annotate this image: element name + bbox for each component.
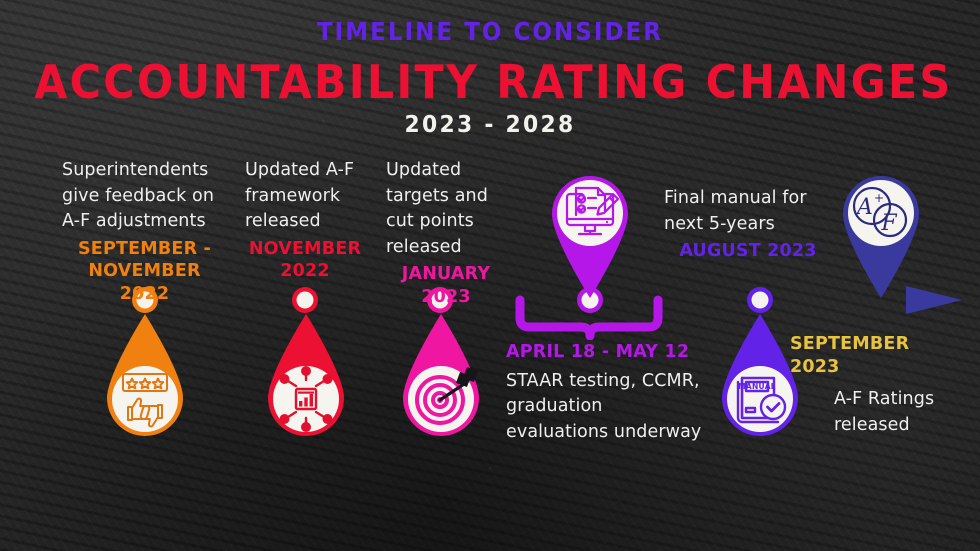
event-body: STAAR testing, CCMR, graduation evaluati… xyxy=(506,369,706,446)
event-date: NOVEMBER 2022 xyxy=(245,238,365,283)
event-body: A-F Ratings released xyxy=(834,387,955,438)
marker-staar-testing[interactable] xyxy=(545,152,635,300)
node-5[interactable] xyxy=(747,287,773,313)
event-af-ratings-released-text: SEPTEMBER 2023 A-F Ratings released xyxy=(790,333,955,438)
year-range-subtitle: 2023 - 2028 xyxy=(25,112,956,138)
manual-book-label: MANUAL xyxy=(738,382,776,391)
event-final-manual-text: Final manual for next 5-years AUGUST 202… xyxy=(664,186,832,263)
event-body: Updated A-F framework released xyxy=(245,158,375,235)
marker-final-manual[interactable]: MANUAL xyxy=(716,312,804,444)
event-targets-cut-points-text: Updated targets and cut points released … xyxy=(386,158,521,308)
marker-targets-cut-points[interactable] xyxy=(397,312,485,444)
node-2[interactable] xyxy=(292,287,318,313)
event-framework-released-text: Updated A-F framework released NOVEMBER … xyxy=(245,158,375,283)
marker-framework-released[interactable] xyxy=(262,312,350,444)
event-body: Superintendents give feedback on A-F adj… xyxy=(62,158,227,235)
event-staar-testing-text: APRIL 18 - MAY 12 STAAR testing, CCMR, g… xyxy=(506,341,706,445)
svg-text:A: A xyxy=(855,195,873,220)
event-date: APRIL 18 - MAY 12 xyxy=(506,341,706,364)
event-date: SEPTEMBER 2023 xyxy=(790,333,955,378)
event-body: Final manual for next 5-years xyxy=(664,186,832,237)
event-date: JANUARY 2023 xyxy=(386,263,506,308)
eyebrow-heading: TIMELINE TO CONSIDER xyxy=(39,17,941,46)
marker-af-ratings-released[interactable]: A + F xyxy=(836,152,926,300)
page-title: ACCOUNTABILITY RATING CHANGES xyxy=(34,55,945,109)
svg-text:+: + xyxy=(874,191,884,205)
event-superintendent-feedback-text: Superintendents give feedback on A-F adj… xyxy=(62,158,227,305)
marker-superintendent-feedback[interactable] xyxy=(101,312,189,444)
event-date: SEPTEMBER - NOVEMBER 2022 xyxy=(62,238,227,306)
svg-text:F: F xyxy=(880,211,897,236)
event-body: Updated targets and cut points released xyxy=(386,158,521,260)
event-date: AUGUST 2023 xyxy=(664,240,832,263)
